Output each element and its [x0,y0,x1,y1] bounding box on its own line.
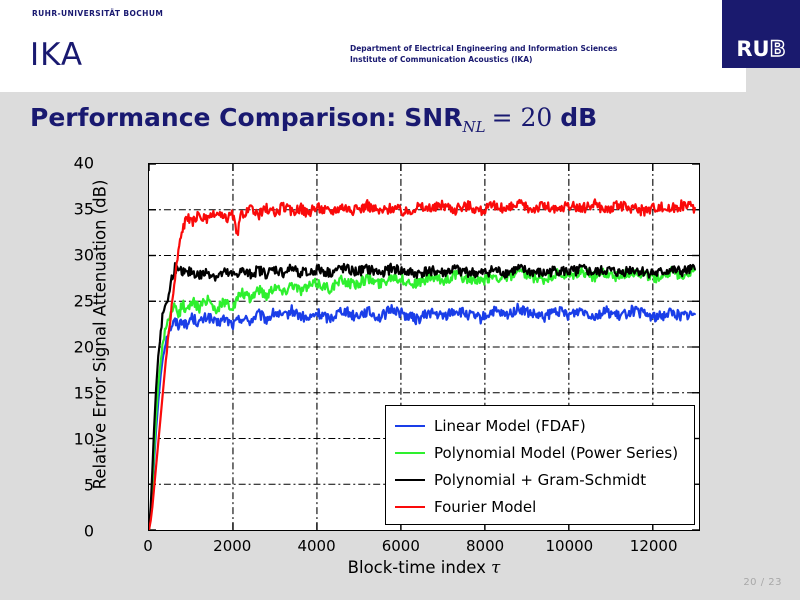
legend-color-swatch [395,479,425,481]
rub-logo: RUB [722,0,800,68]
x-tick-label: 12000 [630,537,678,555]
rub-logo-ru: RU [736,37,769,61]
x-axis-label: Block-time index τ [148,558,700,577]
title-subscript: NL [462,118,485,136]
x-tick-label: 8000 [466,537,504,555]
x-axis-label-tau: τ [491,558,500,577]
page-title: Performance Comparison:SNRNL= 20dB [30,104,597,136]
x-axis-label-text: Block-time index [348,558,492,577]
rub-logo-text: RUB [722,39,800,60]
legend-label: Linear Model (FDAF) [434,417,586,435]
y-tick-label: 25 [34,292,94,311]
y-tick-label: 10 [34,430,94,449]
university-name: RUHR-UNIVERSITÄT BOCHUM [32,9,163,18]
y-tick-label: 40 [34,154,94,173]
legend-item[interactable]: Fourier Model [386,493,694,520]
department-line-2: Institute of Communication Acoustics (IK… [350,55,617,66]
legend-color-swatch [395,506,425,508]
x-tick-label: 0 [143,537,153,555]
x-tick-label: 6000 [382,537,420,555]
x-tick-label: 2000 [213,537,251,555]
rub-logo-b: B [770,37,786,61]
y-tick-label: 35 [34,200,94,219]
legend-item[interactable]: Polynomial + Gram-Schmidt [386,466,694,493]
ika-logo: IKA [30,40,83,71]
legend-label: Polynomial Model (Power Series) [434,444,678,462]
legend-label: Fourier Model [434,498,536,516]
chart-legend: Linear Model (FDAF)Polynomial Model (Pow… [385,405,695,525]
y-tick-label: 15 [34,384,94,403]
legend-item[interactable]: Linear Model (FDAF) [386,412,694,439]
legend-item[interactable]: Polynomial Model (Power Series) [386,439,694,466]
page-number: 20 / 23 [743,577,782,588]
y-tick-label: 20 [34,338,94,357]
chart-figure: Relative Error Signal Attenuation (dB) B… [0,150,800,590]
title-symbol: SNR [404,103,462,132]
legend-label: Polynomial + Gram-Schmidt [434,471,646,489]
slide-header: RUHR-UNIVERSITÄT BOCHUM IKA Department o… [0,0,746,92]
title-main: Performance Comparison: [30,103,396,132]
department-info: Department of Electrical Engineering and… [350,44,617,66]
title-equals: = 20 [492,103,553,132]
x-tick-label: 10000 [546,537,594,555]
legend-color-swatch [395,425,425,427]
y-tick-label: 30 [34,246,94,265]
y-tick-label: 0 [34,522,94,541]
x-tick-label: 4000 [297,537,335,555]
y-tick-label: 5 [34,476,94,495]
department-line-1: Department of Electrical Engineering and… [350,44,617,55]
title-unit: dB [560,103,597,132]
legend-color-swatch [395,452,425,454]
